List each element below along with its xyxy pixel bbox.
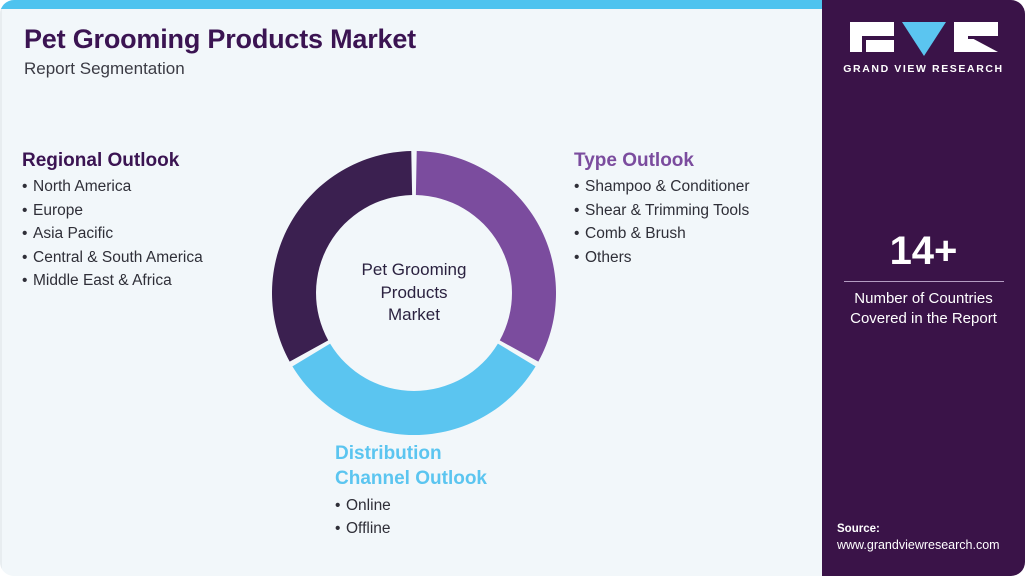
donut-segment[interactable]: [292, 344, 535, 435]
list-item: •Offline: [335, 517, 565, 540]
bullet-icon: •: [574, 222, 585, 245]
list-item-label: North America: [33, 178, 131, 195]
list-item-label: Asia Pacific: [33, 225, 113, 242]
bullet-icon: •: [574, 175, 585, 198]
donut-segment[interactable]: [416, 151, 556, 362]
list-item: •Middle East & Africa: [22, 269, 282, 292]
infographic-card: Pet Grooming Products Market Report Segm…: [0, 0, 1025, 576]
list-item-label: Shampoo & Conditioner: [585, 178, 750, 195]
stat-label-line1: Number of Countries: [822, 289, 1025, 309]
list-item: •Online: [335, 494, 565, 517]
list-item-label: Online: [346, 497, 391, 514]
stat-divider: [844, 281, 1004, 282]
list-item: •Shampoo & Conditioner: [574, 175, 814, 198]
type-outlook-list: •Shampoo & Conditioner •Shear & Trimming…: [574, 175, 814, 269]
donut-segment[interactable]: [272, 151, 412, 362]
regional-outlook-list: •North America •Europe •Asia Pacific •Ce…: [22, 175, 282, 292]
list-item-label: Central & South America: [33, 249, 203, 266]
stat-value: 14+: [822, 230, 1025, 272]
list-item: •Asia Pacific: [22, 222, 282, 245]
header: Pet Grooming Products Market Report Segm…: [24, 24, 784, 79]
stat-block: 14+ Number of Countries Covered in the R…: [822, 230, 1025, 328]
distribution-outlook-heading-line1: Distribution: [335, 443, 565, 465]
list-item-label: Shear & Trimming Tools: [585, 202, 749, 219]
list-item: •Others: [574, 246, 814, 269]
distribution-outlook-list: •Online •Offline: [335, 494, 565, 541]
list-item-label: Offline: [346, 520, 391, 537]
bullet-icon: •: [574, 246, 585, 269]
regional-outlook-heading: Regional Outlook: [22, 150, 282, 172]
bullet-icon: •: [574, 199, 585, 222]
page-title: Pet Grooming Products Market: [24, 24, 784, 55]
source-url[interactable]: www.grandviewresearch.com: [837, 537, 1025, 554]
top-accent-bar: [0, 0, 822, 9]
logo: GRAND VIEW RESEARCH: [822, 22, 1025, 75]
source-title: Source:: [837, 522, 1025, 538]
gvr-logo-icon: [850, 22, 998, 56]
bullet-icon: •: [22, 269, 33, 292]
list-item: •Central & South America: [22, 246, 282, 269]
source-block: Source: www.grandviewresearch.com: [837, 522, 1025, 554]
list-item-label: Others: [585, 249, 632, 266]
stat-label-line2: Covered in the Report: [822, 309, 1025, 329]
type-outlook-block: Type Outlook •Shampoo & Conditioner •She…: [574, 150, 814, 269]
regional-outlook-block: Regional Outlook •North America •Europe …: [22, 150, 282, 292]
donut-chart-svg: [272, 151, 556, 435]
donut-chart: Pet Grooming Products Market: [272, 151, 556, 435]
list-item-label: Comb & Brush: [585, 225, 686, 242]
bullet-icon: •: [335, 494, 346, 517]
logo-wordmark: GRAND VIEW RESEARCH: [822, 63, 1025, 75]
list-item-label: Europe: [33, 202, 83, 219]
stat-label: Number of Countries Covered in the Repor…: [822, 289, 1025, 328]
list-item-label: Middle East & Africa: [33, 272, 172, 289]
bullet-icon: •: [22, 199, 33, 222]
type-outlook-heading: Type Outlook: [574, 150, 814, 172]
distribution-channel-outlook-block: Distribution Channel Outlook •Online •Of…: [335, 443, 565, 540]
list-item: •Europe: [22, 199, 282, 222]
list-item: •Shear & Trimming Tools: [574, 199, 814, 222]
list-item: •North America: [22, 175, 282, 198]
page-subtitle: Report Segmentation: [24, 59, 784, 79]
sidebar-panel: GRAND VIEW RESEARCH 14+ Number of Countr…: [822, 0, 1025, 576]
list-item: •Comb & Brush: [574, 222, 814, 245]
bullet-icon: •: [22, 222, 33, 245]
bullet-icon: •: [22, 175, 33, 198]
distribution-outlook-heading-line2: Channel Outlook: [335, 468, 565, 490]
bullet-icon: •: [335, 517, 346, 540]
bullet-icon: •: [22, 246, 33, 269]
